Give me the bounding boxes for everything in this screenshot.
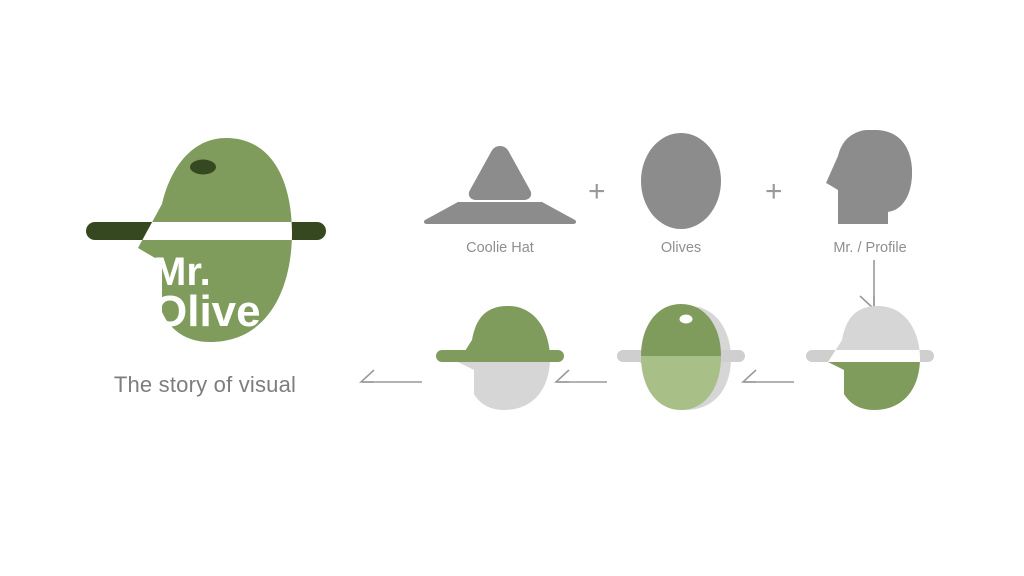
brand-tagline: The story of visual: [0, 372, 410, 398]
step1-green-cap: [420, 300, 580, 356]
ingredient-label-coolie-hat: Coolie Hat: [420, 240, 580, 256]
coolie-hat-art: [420, 128, 580, 228]
step3-head-bottom: [790, 362, 950, 420]
step2-olive-overlay: [641, 304, 721, 410]
mr-olive-logo: Mr. Olive: [80, 130, 340, 360]
coolie-hat-brim: [424, 202, 576, 224]
ingredient-label-olives: Olives: [601, 240, 761, 256]
olive-art: [601, 128, 761, 228]
ingredient-label-profile: Mr. / Profile: [790, 240, 950, 256]
ingredient-olives: Olives: [601, 128, 761, 256]
step3-head-top: [790, 300, 950, 350]
head-profile-art: [790, 128, 950, 228]
logo-wordmark-line2: Olive: [153, 287, 261, 336]
plus-operator-2: +: [765, 177, 783, 207]
head-profile-icon: [790, 128, 950, 228]
slide-canvas: Mr. Olive The story of visual Coolie Hat…: [0, 0, 1024, 576]
step-profile-with-hat-brim: [790, 300, 950, 420]
step2-olive-pimento-dot: [680, 315, 693, 324]
olive-ellipse-icon: [601, 128, 761, 228]
step1-brim-bar: [436, 350, 564, 362]
ingredient-coolie-hat: Coolie Hat: [420, 128, 580, 256]
coolie-hat-icon: [420, 128, 580, 228]
step-final-merged-mark: [420, 300, 580, 420]
ingredient-profile: Mr. / Profile: [790, 128, 950, 256]
arrow-left-3: [358, 362, 424, 390]
coolie-hat-crown: [469, 146, 531, 200]
logo-olive-pimento-dot: [190, 160, 216, 175]
step-olive-over-profile: [601, 300, 761, 420]
olive-body: [641, 133, 721, 229]
